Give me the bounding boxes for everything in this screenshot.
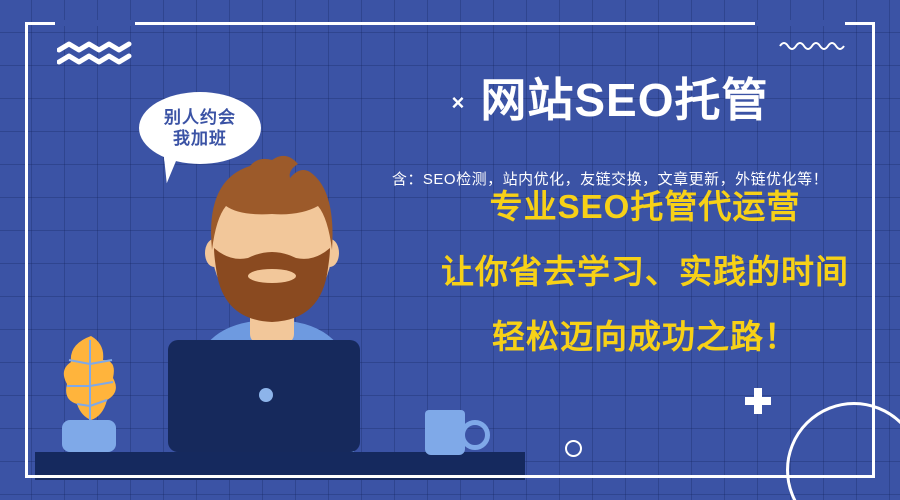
slogan-list: 专业SEO托管代运营 让你省去学习、实践的时间 轻松迈向成功之路！ <box>400 190 890 353</box>
page-title: 网站SEO托管 <box>480 75 768 126</box>
speech-bubble: 别人约会 我加班 <box>139 92 261 164</box>
speech-bubble-line-1: 别人约会 <box>164 107 236 128</box>
headline-block: × 网站SEO托管 含：SEO检测，站内优化，友链交换，文章更新，外链优化等！ <box>330 44 890 189</box>
slogan-line-1: 专业SEO托管代运营 <box>400 190 890 223</box>
plus-decoration-icon <box>745 388 771 414</box>
x-mark-icon: × <box>451 92 464 114</box>
slogan-line-2: 让你省去学习、实践的时间 <box>400 255 890 288</box>
frame-notch-right <box>755 20 845 26</box>
speech-bubble-line-2: 我加班 <box>173 128 227 149</box>
small-circle-decoration <box>565 440 582 457</box>
page-subtitle: 含：SEO检测，站内优化，友链交换，文章更新，外链优化等！ <box>330 168 890 189</box>
seo-hosting-banner: × 网站SEO托管 含：SEO检测，站内优化，友链交换，文章更新，外链优化等！ … <box>0 0 900 500</box>
frame-notch-left <box>55 20 135 26</box>
title-row: × 网站SEO托管 <box>330 44 890 156</box>
slogan-line-3: 轻松迈向成功之路！ <box>400 320 890 353</box>
